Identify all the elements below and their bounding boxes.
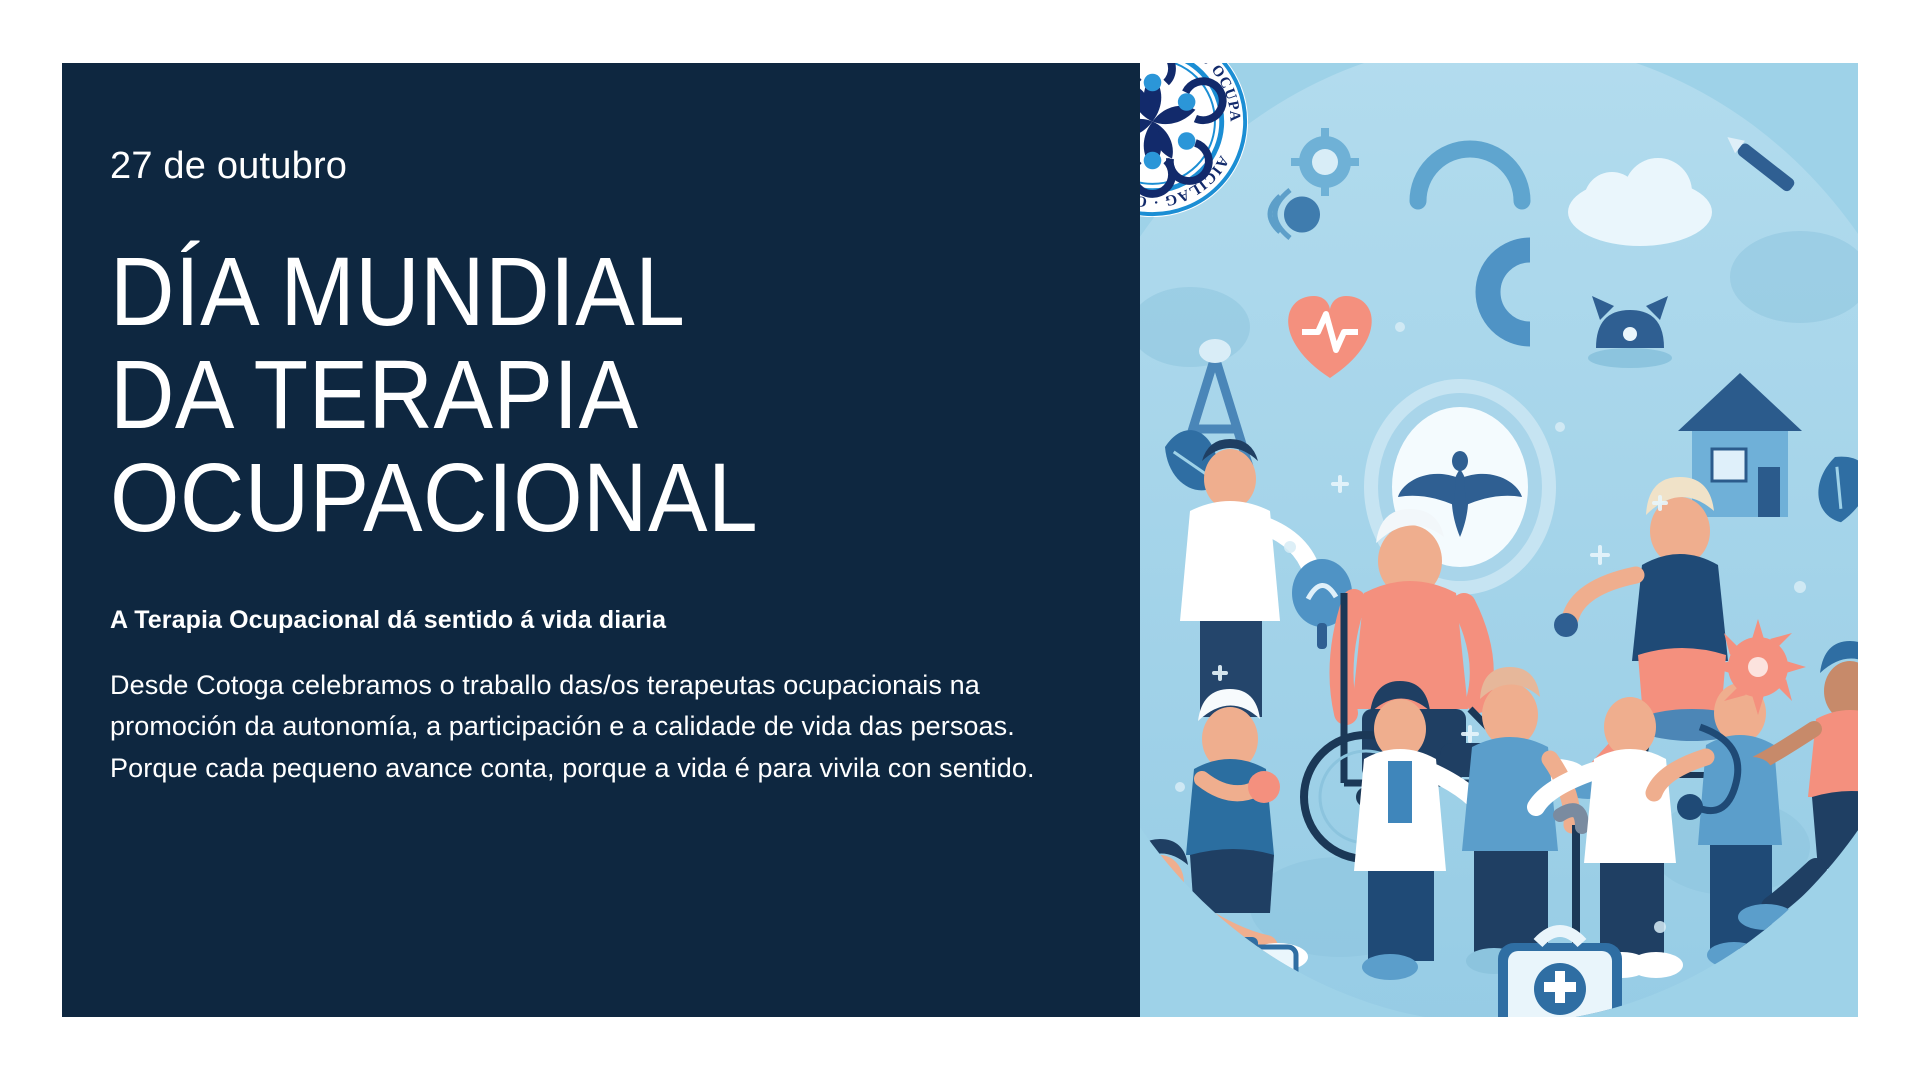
headline-line-3: OCUPACIONAL: [110, 447, 1058, 550]
body-paragraph: Desde Cotoga celebramos o traballo das/o…: [110, 665, 1065, 788]
sun-burst-icon: [1710, 619, 1806, 715]
page-title: DÍA MUNDIAL DA TERAPIA OCUPACIONAL: [110, 241, 1058, 549]
subtitle: A Terapia Ocupacional dá sentido á vida …: [110, 605, 1140, 635]
left-text-panel: 27 de outubro DÍA MUNDIAL DA TERAPIA OCU…: [62, 63, 1140, 1017]
cotoga-logo[interactable]: COLEGIO OFICIAL DE TERAPEUTAS OCUPACIONA…: [1140, 63, 1250, 219]
first-aid-kit-icon: [1498, 931, 1622, 1017]
illustration-panel: COLEGIO OFICIAL DE TERAPEUTAS OCUPACIONA…: [1140, 63, 1858, 1017]
headline-line-1: DÍA MUNDIAL: [110, 241, 1058, 344]
event-date: 27 de outubro: [110, 147, 1140, 185]
poster-canvas: 27 de outubro DÍA MUNDIAL DA TERAPIA OCU…: [62, 63, 1858, 1017]
headline-line-2: DA TERAPIA: [110, 344, 1058, 447]
